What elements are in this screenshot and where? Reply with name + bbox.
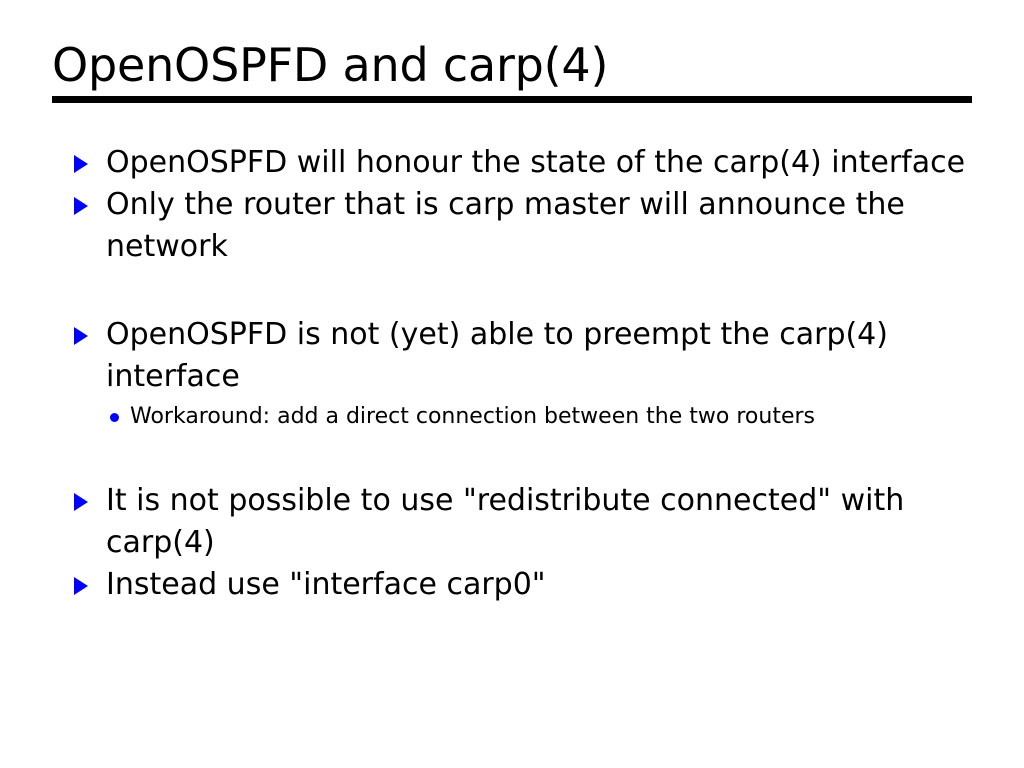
list-item-label: It is not possible to use "redistribute … bbox=[106, 480, 970, 564]
bullet-list: It is not possible to use "redistribute … bbox=[70, 480, 970, 606]
slide-body: OpenOSPFD will honour the state of the c… bbox=[70, 142, 970, 606]
bullet-group: OpenOSPFD will honour the state of the c… bbox=[70, 142, 970, 268]
sub-list-item: Workaround: add a direct connection betw… bbox=[108, 400, 970, 434]
triangle-right-icon bbox=[74, 327, 88, 345]
disc-bullet-icon bbox=[110, 413, 119, 422]
title-block: OpenOSPFD and carp(4) bbox=[52, 38, 972, 103]
bullet-group: OpenOSPFD is not (yet) able to preempt t… bbox=[70, 314, 970, 434]
list-item: OpenOSPFD is not (yet) able to preempt t… bbox=[70, 314, 970, 434]
triangle-right-icon bbox=[74, 155, 88, 173]
page-title: OpenOSPFD and carp(4) bbox=[52, 38, 972, 92]
list-item-label: OpenOSPFD is not (yet) able to preempt t… bbox=[106, 314, 970, 398]
list-item-label: Instead use "interface carp0" bbox=[106, 564, 970, 606]
bullet-group: It is not possible to use "redistribute … bbox=[70, 480, 970, 606]
list-item: Only the router that is carp master will… bbox=[70, 184, 970, 268]
bullet-list: OpenOSPFD will honour the state of the c… bbox=[70, 142, 970, 268]
list-item: OpenOSPFD will honour the state of the c… bbox=[70, 142, 970, 184]
title-underline-rule bbox=[52, 96, 972, 103]
list-item-label: Only the router that is carp master will… bbox=[106, 184, 970, 268]
triangle-right-icon bbox=[74, 493, 88, 511]
sub-bullet-list: Workaround: add a direct connection betw… bbox=[106, 400, 970, 434]
bullet-list: OpenOSPFD is not (yet) able to preempt t… bbox=[70, 314, 970, 434]
triangle-right-icon bbox=[74, 577, 88, 595]
triangle-right-icon bbox=[74, 197, 88, 215]
list-item-label: OpenOSPFD will honour the state of the c… bbox=[106, 142, 970, 184]
slide: OpenOSPFD and carp(4) OpenOSPFD will hon… bbox=[0, 0, 1024, 768]
sub-list-item-label: Workaround: add a direct connection betw… bbox=[130, 400, 970, 434]
list-item: Instead use "interface carp0" bbox=[70, 564, 970, 606]
list-item: It is not possible to use "redistribute … bbox=[70, 480, 970, 564]
